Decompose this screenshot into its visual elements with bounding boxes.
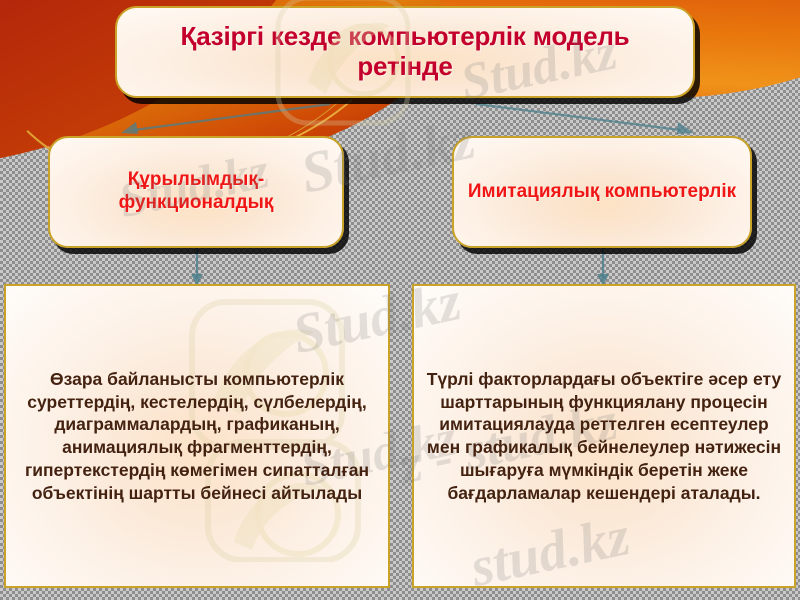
- slide-canvas: Stud.kz Stud.kz Stud.kz z - stud.kz Stud…: [0, 0, 800, 600]
- description-text: Өзара байланысты компьютерлік суреттерді…: [6, 368, 388, 505]
- branch-label: Имитациялық компьютерлік: [456, 181, 748, 204]
- description-panel-structural-functional: Өзара байланысты компьютерлік суреттерді…: [4, 284, 390, 588]
- branch-label: Құрылымдық-функционалдық: [50, 169, 342, 215]
- branch-box-structural-functional: Құрылымдық-функционалдық: [48, 136, 344, 248]
- description-panel-imitation-computer: Түрлі факторлардағы объектіге әсер ету ш…: [412, 284, 796, 588]
- slide-title-text: Қазіргі кезде компьютерлік модель ретінд…: [117, 22, 693, 81]
- connector-title-to-left-branch: [118, 100, 338, 138]
- connector-left-branch-to-description: [186, 248, 208, 288]
- slide-title-box: Қазіргі кезде компьютерлік модель ретінд…: [115, 6, 695, 98]
- connector-title-to-right-branch: [468, 100, 698, 138]
- branch-box-imitation-computer: Имитациялық компьютерлік: [452, 136, 752, 248]
- connector-right-branch-to-description: [592, 248, 614, 288]
- description-text: Түрлі факторлардағы объектіге әсер ету ш…: [414, 368, 794, 505]
